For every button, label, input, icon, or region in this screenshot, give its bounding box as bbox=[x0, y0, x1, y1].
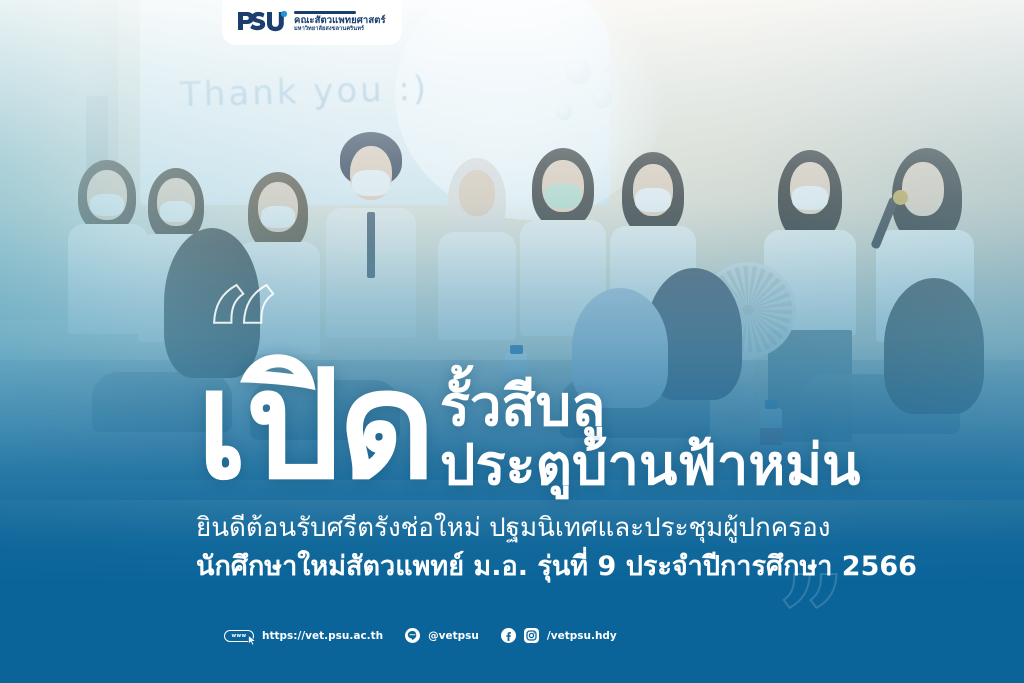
headline-big-word: เปิด bbox=[196, 362, 434, 491]
logo-rule bbox=[294, 11, 356, 14]
poster-canvas: Thank you :) bbox=[0, 0, 1024, 683]
subtitle-block: ยินดีต้อนรับศรีตรังช่อใหม่ ปฐมนิเทศและปร… bbox=[196, 512, 956, 584]
line-app-icon[interactable] bbox=[405, 628, 420, 643]
logo-university-name: มหาวิทยาลัยสงขลานครินทร์ bbox=[294, 27, 386, 33]
logo-faculty-name: คณะสัตวแพทยศาสตร์ bbox=[294, 16, 386, 26]
facebook-icon[interactable] bbox=[501, 628, 516, 643]
subtitle-line-2: นักศึกษาใหม่สัตวแพทย์ ม.อ. รุ่นที่ 9 ประ… bbox=[196, 549, 956, 584]
browser-bar-icon: www bbox=[224, 630, 254, 642]
website-url[interactable]: https://vet.psu.ac.th bbox=[262, 630, 383, 642]
headline-line-2: ประตูบ้านฟ้าหม่น bbox=[440, 437, 861, 496]
social-handle[interactable]: /vetpsu.hdy bbox=[547, 630, 617, 642]
logo-text-block: คณะสัตวแพทยศาสตร์ มหาวิทยาลัยสงขลานครินท… bbox=[294, 11, 386, 33]
headline-stacked-lines: รั้วสีบลู ประตูบ้านฟ้าหม่น bbox=[440, 378, 861, 496]
facebook-f-glyph bbox=[503, 630, 514, 641]
psu-logo-badge: คณะสัตวแพทยศาสตร์ มหาวิทยาลัยสงขลานครินท… bbox=[222, 0, 402, 45]
line-bubble-glyph bbox=[407, 630, 418, 641]
instagram-icon[interactable] bbox=[524, 628, 539, 643]
psu-wordmark-icon bbox=[236, 9, 288, 35]
headline-block: เปิด รั้วสีบลู ประตูบ้านฟ้าหม่น bbox=[196, 362, 896, 496]
instagram-camera-glyph bbox=[526, 630, 537, 641]
line-handle[interactable]: @vetpsu bbox=[428, 630, 479, 642]
browser-bar-label: www bbox=[231, 633, 246, 639]
subtitle-line-1: ยินดีต้อนรับศรีตรังช่อใหม่ ปฐมนิเทศและปร… bbox=[196, 512, 956, 546]
cursor-arrow-icon bbox=[248, 635, 257, 646]
headline-line-1: รั้วสีบลู bbox=[440, 378, 861, 437]
footer-contact-bar: www https://vet.psu.ac.th @vetpsu bbox=[224, 628, 617, 643]
